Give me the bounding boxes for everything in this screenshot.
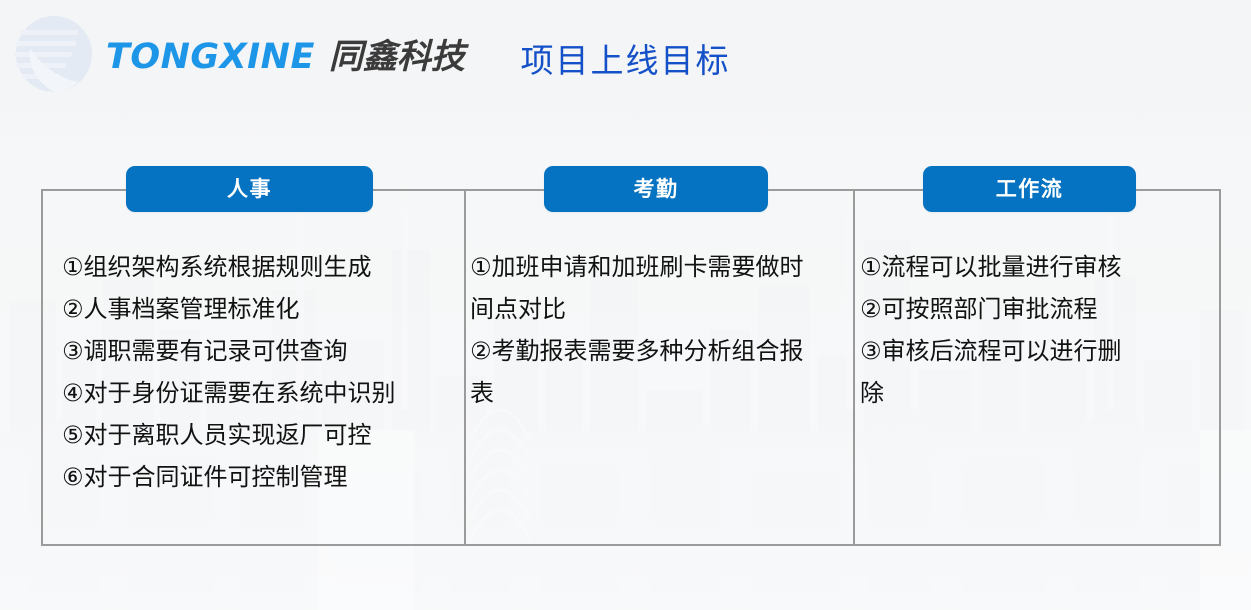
list-item: 间点对比 (470, 288, 848, 330)
column-divider-2 (853, 189, 855, 546)
list-item: ①加班申请和加班刷卡需要做时 (470, 246, 848, 288)
list-item: 除 (860, 372, 1220, 414)
column-header-workflow: 工作流 (923, 166, 1136, 212)
list-item: ②可按照部门审批流程 (860, 288, 1220, 330)
column-header-attendance-label: 考勤 (634, 179, 679, 200)
list-item: ⑥对于合同证件可控制管理 (62, 456, 452, 498)
column-body-hr: ①组织架构系统根据规则生成 ②人事档案管理标准化 ③调职需要有记录可供查询 ④对… (62, 246, 452, 498)
column-header-workflow-label: 工作流 (996, 179, 1064, 200)
slide-canvas: TONGXINE 同鑫科技 项目上线目标 人事 ①组织架构系统根据规则生成 ②人… (0, 0, 1251, 610)
list-item: ②考勤报表需要多种分析组合报 (470, 330, 848, 372)
column-divider-1 (464, 189, 466, 546)
list-item: ①组织架构系统根据规则生成 (62, 246, 452, 288)
page-title: 项目上线目标 (0, 44, 1251, 77)
list-item: ②人事档案管理标准化 (62, 288, 452, 330)
slide-header-bar: TONGXINE 同鑫科技 项目上线目标 (0, 0, 1251, 104)
list-item: ①流程可以批量进行审核 (860, 246, 1220, 288)
column-header-hr: 人事 (126, 166, 373, 212)
list-item: ③调职需要有记录可供查询 (62, 330, 452, 372)
list-item: 表 (470, 372, 848, 414)
list-item: ③审核后流程可以进行删 (860, 330, 1220, 372)
list-item: ④对于身份证需要在系统中识别 (62, 372, 452, 414)
column-body-workflow: ①流程可以批量进行审核 ②可按照部门审批流程 ③审核后流程可以进行删 除 (860, 246, 1220, 414)
column-body-attendance: ①加班申请和加班刷卡需要做时 间点对比 ②考勤报表需要多种分析组合报 表 (470, 246, 848, 414)
column-header-attendance: 考勤 (544, 166, 768, 212)
list-item: ⑤对于离职人员实现返厂可控 (62, 414, 452, 456)
column-header-hr-label: 人事 (227, 179, 272, 200)
